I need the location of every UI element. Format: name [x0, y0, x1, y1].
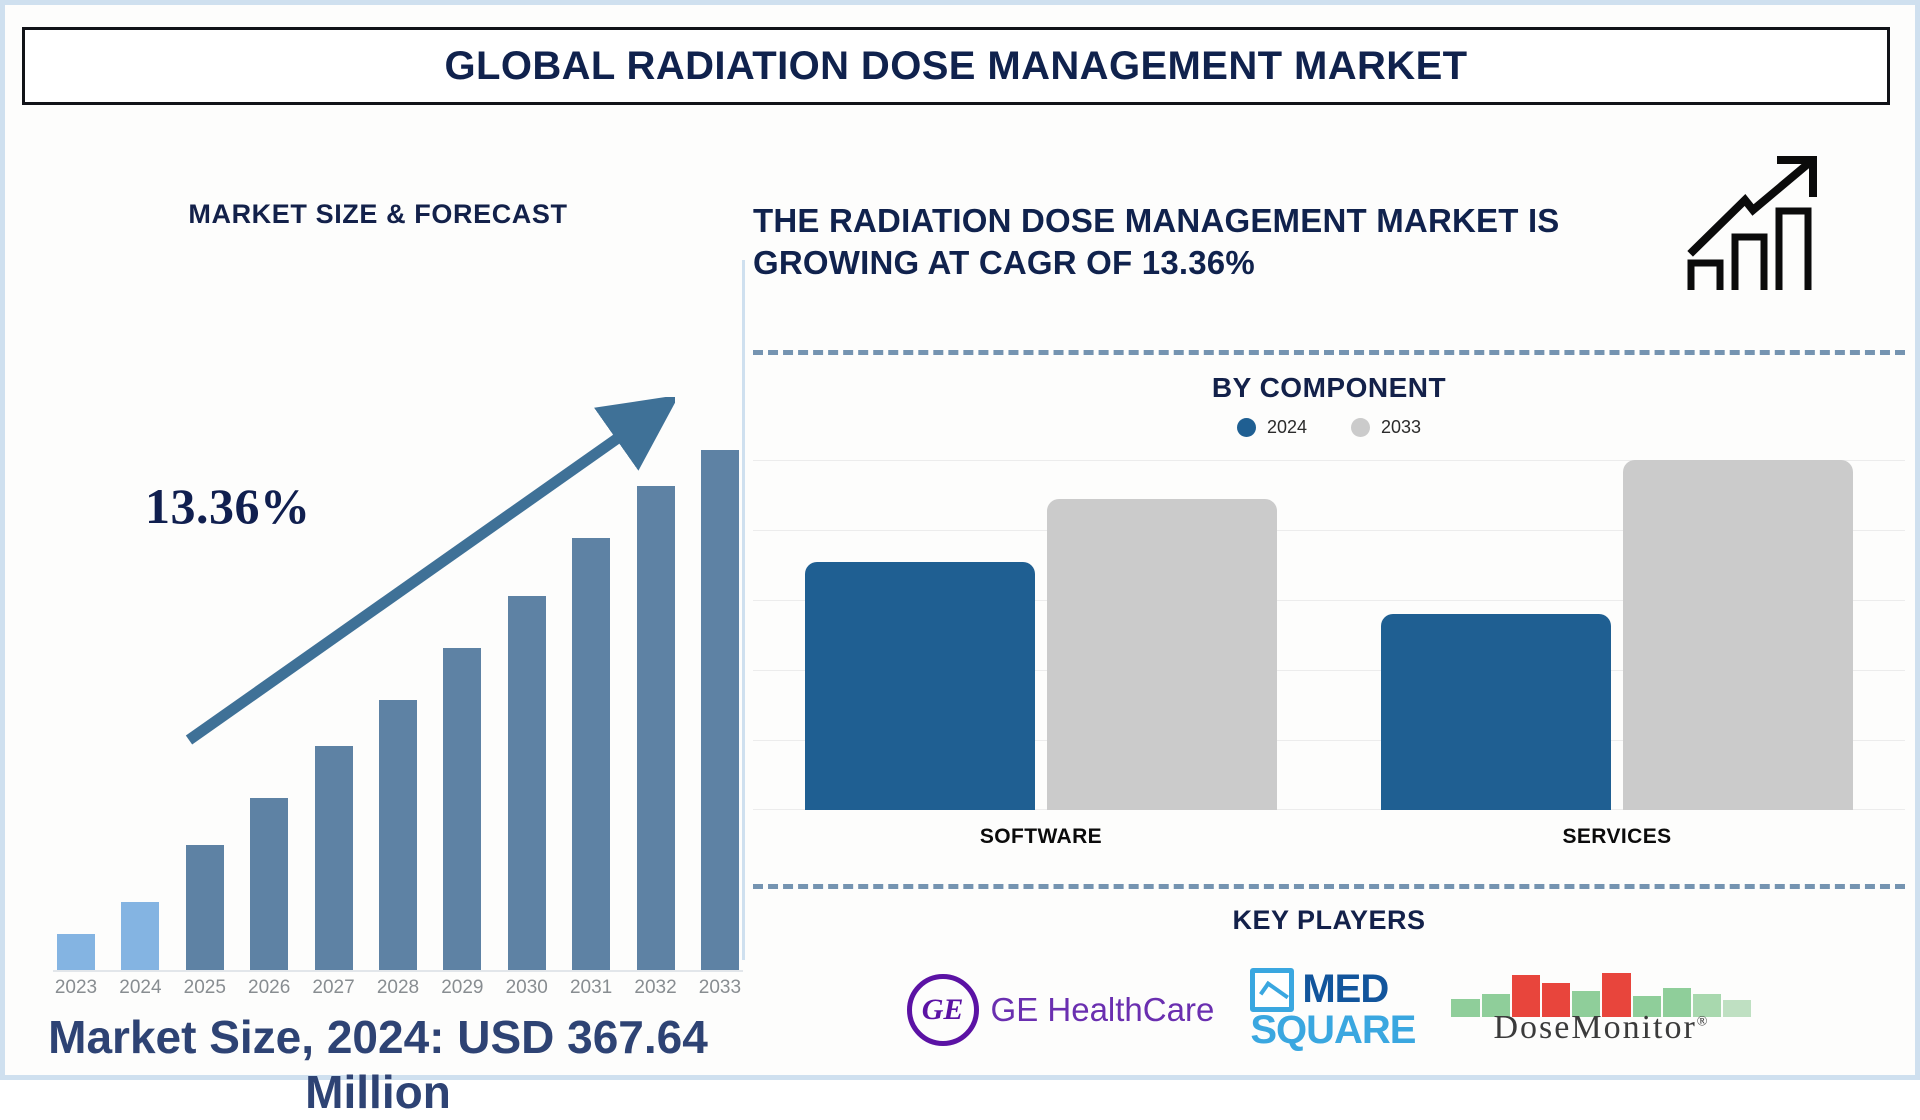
axis-tick-label: 2029: [439, 977, 485, 999]
forecast-bar-2025: [186, 845, 224, 970]
key-players-logos: GE GE HealthCare MED SQUARE: [753, 955, 1905, 1065]
axis-tick-label: 2027: [311, 977, 357, 999]
med-square-top-row: MED: [1250, 967, 1388, 1012]
title-box: GLOBAL RADIATION DOSE MANAGEMENT MARKET: [22, 27, 1890, 105]
market-size-forecast-heading: MARKET SIZE & FORECAST: [15, 199, 741, 230]
forecast-bar-2030: [508, 596, 546, 970]
axis-tick-label: 2023: [53, 977, 99, 999]
key-players-title: KEY PLAYERS: [753, 905, 1905, 936]
by-component-axis-labels: SOFTWARE SERVICES: [753, 825, 1905, 849]
forecast-bar-2026: [250, 798, 288, 970]
bar-column: [568, 450, 614, 970]
med-square-mark-icon: [1250, 968, 1294, 1012]
axis-tick-label: 2033: [697, 977, 743, 999]
bar-column: [182, 450, 228, 970]
legend-swatch-icon: [1351, 418, 1370, 437]
logo-dosemonitor: DoseMonitor®: [1451, 960, 1751, 1060]
section-divider-top: [753, 350, 1905, 355]
legend-item-2024: 2024: [1237, 417, 1307, 438]
legend-item-2033: 2033: [1351, 417, 1421, 438]
axis-label-services: SERVICES: [1329, 825, 1905, 849]
bar-column: [375, 450, 421, 970]
bar-services-2024: [1381, 614, 1611, 810]
bar-column: [311, 450, 357, 970]
bar-column: [439, 450, 485, 970]
forecast-bar-2032: [637, 486, 675, 970]
section-divider-bottom: [753, 884, 1905, 889]
legend-label: 2024: [1267, 417, 1307, 438]
axis-tick-label: 2030: [504, 977, 550, 999]
bar-column: [697, 450, 743, 970]
left-panel: MARKET SIZE & FORECAST 13.36%: [15, 117, 741, 1072]
legend-label: 2033: [1381, 417, 1421, 438]
axis-tick-label: 2031: [568, 977, 614, 999]
legend-swatch-icon: [1237, 418, 1256, 437]
forecast-bar-2024: [121, 902, 159, 970]
logo-label-line1: MED: [1302, 967, 1388, 1012]
bar-group-software: [753, 460, 1329, 810]
by-component-chart: SOFTWARE SERVICES: [753, 460, 1905, 850]
forecast-bar-2028: [379, 700, 417, 970]
forecast-bar-2031: [572, 538, 610, 970]
chart-baseline: [53, 970, 743, 972]
logo-label: DoseMonitor®: [1493, 1009, 1709, 1047]
forecast-year-axis: 2023 2024 2025 2026 2027 2028 2029 2030 …: [53, 977, 743, 999]
by-component-legend: 2024 2033: [753, 417, 1905, 438]
infographic-root: GLOBAL RADIATION DOSE MANAGEMENT MARKET …: [0, 0, 1920, 1080]
axis-tick-label: 2024: [117, 977, 163, 999]
bar-chart-growth-icon: [1683, 145, 1833, 295]
trademark-symbol: ®: [1697, 1015, 1710, 1030]
logo-med-square: MED SQUARE: [1250, 960, 1415, 1060]
bar-column: [633, 450, 679, 970]
bar-software-2024: [805, 562, 1035, 811]
panel-divider: [742, 260, 745, 960]
forecast-bar-2029: [443, 648, 481, 970]
ge-monogram-icon: GE: [907, 974, 979, 1046]
logo-label: GE HealthCare: [991, 991, 1215, 1029]
forecast-bar-2033: [701, 450, 739, 970]
logo-word: DoseMonitor: [1493, 1009, 1696, 1046]
bar-column: [53, 450, 99, 970]
axis-tick-label: 2032: [633, 977, 679, 999]
bar-services-2033: [1623, 460, 1853, 810]
forecast-bar-2023: [57, 934, 95, 970]
bar-column: [504, 450, 550, 970]
axis-tick-label: 2025: [182, 977, 228, 999]
bar-column: [246, 450, 292, 970]
bar-software-2033: [1047, 499, 1277, 811]
by-component-bar-groups: [753, 460, 1905, 810]
forecast-bar-2027: [315, 746, 353, 970]
by-component-title: BY COMPONENT: [753, 372, 1905, 404]
right-panel: THE RADIATION DOSE MANAGEMENT MARKET IS …: [753, 117, 1913, 1072]
axis-label-software: SOFTWARE: [753, 825, 1329, 849]
forecast-bars: [53, 450, 743, 970]
logo-ge-healthcare: GE GE HealthCare: [907, 960, 1215, 1060]
axis-tick-label: 2026: [246, 977, 292, 999]
axis-tick-label: 2028: [375, 977, 421, 999]
bar-column: [117, 450, 163, 970]
bar-group-services: [1329, 460, 1905, 810]
market-size-caption: Market Size, 2024: USD 367.64 Million: [15, 1010, 741, 1120]
market-size-forecast-chart: 2023 2024 2025 2026 2027 2028 2029 2030 …: [53, 447, 743, 972]
logo-label-line2: SQUARE: [1250, 1008, 1415, 1053]
page-title: GLOBAL RADIATION DOSE MANAGEMENT MARKET: [445, 44, 1468, 89]
growth-statement: THE RADIATION DOSE MANAGEMENT MARKET IS …: [753, 200, 1673, 284]
